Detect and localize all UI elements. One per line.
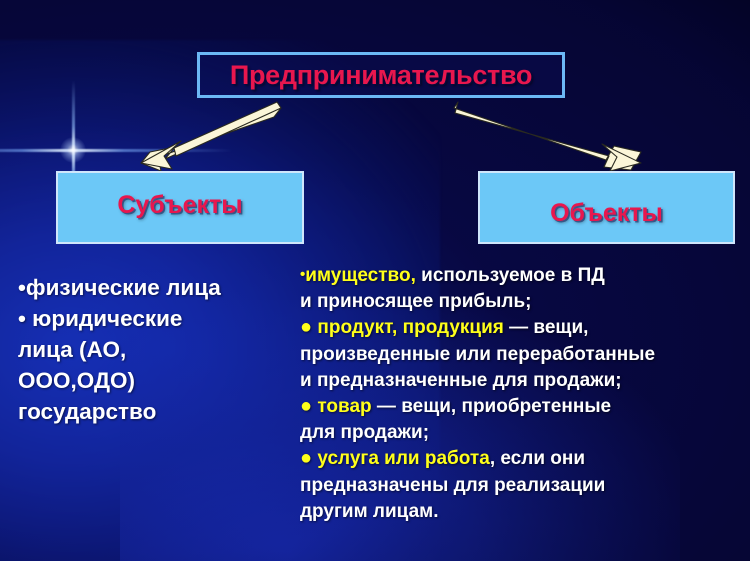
- object-text: — вещи, приобретенные: [372, 396, 611, 417]
- highlighted-term: товар: [312, 396, 372, 417]
- category-box-objects[interactable]: Объекты: [478, 171, 735, 244]
- object-line: ● продукт, продукция — вещи,: [300, 315, 744, 341]
- object-text: произведенные или переработанные: [300, 344, 655, 365]
- object-text: — вещи,: [504, 317, 589, 338]
- subject-line: лица (АО,: [18, 334, 298, 365]
- object-line: ● услуга или работа, если они: [300, 446, 744, 472]
- object-line: для продажи;: [300, 420, 744, 446]
- subject-line: • юридические: [18, 303, 298, 334]
- object-line: предназначены для реализации: [300, 473, 744, 499]
- object-line: другим лицам.: [300, 499, 744, 525]
- object-line: •имущество, используемое в ПД: [300, 262, 744, 289]
- object-text: и приносящее прибыль;: [300, 291, 531, 312]
- sparkle-horizontal-beam: [0, 149, 233, 152]
- subject-line: государство: [18, 396, 298, 427]
- highlighted-term: продукт, продукция: [312, 317, 504, 338]
- object-text: другим лицам.: [300, 501, 438, 522]
- title-box: Предпринимательство: [197, 52, 565, 98]
- list-bullet-icon: ●: [300, 447, 312, 469]
- highlighted-term: услуга или работа: [312, 448, 490, 469]
- objects-text-column: •имущество, используемое в ПД и приносящ…: [300, 262, 744, 525]
- object-line: и предназначенные для продажи;: [300, 368, 744, 394]
- category-box-subjects[interactable]: Субъекты: [56, 171, 304, 244]
- slide-canvas: Предпринимательство Субъекты Объекты •фи…: [0, 0, 750, 561]
- object-line: ● товар — вещи, приобретенные: [300, 394, 744, 420]
- list-bullet-icon: ●: [300, 316, 312, 338]
- object-text: для продажи;: [300, 422, 429, 443]
- highlighted-term: имущество,: [305, 265, 416, 286]
- subject-line: •физические лица: [18, 272, 298, 303]
- object-line: произведенные или переработанные: [300, 342, 744, 368]
- sparkle-core: [60, 137, 86, 163]
- object-text: и предназначенные для продажи;: [300, 370, 622, 391]
- subject-line: ООО,ОДО): [18, 365, 298, 396]
- object-text: , если они: [490, 448, 585, 469]
- subjects-text-column: •физические лица• юридическиелица (АО,ОО…: [18, 272, 298, 427]
- page-title: Предпринимательство: [230, 60, 532, 91]
- category-label-subjects: Субъекты: [117, 191, 242, 220]
- list-bullet-icon: ●: [300, 395, 312, 417]
- object-line: и приносящее прибыль;: [300, 289, 744, 315]
- object-text: предназначены для реализации: [300, 475, 605, 496]
- object-text: используемое в ПД: [416, 265, 605, 286]
- category-label-objects: Объекты: [550, 199, 663, 228]
